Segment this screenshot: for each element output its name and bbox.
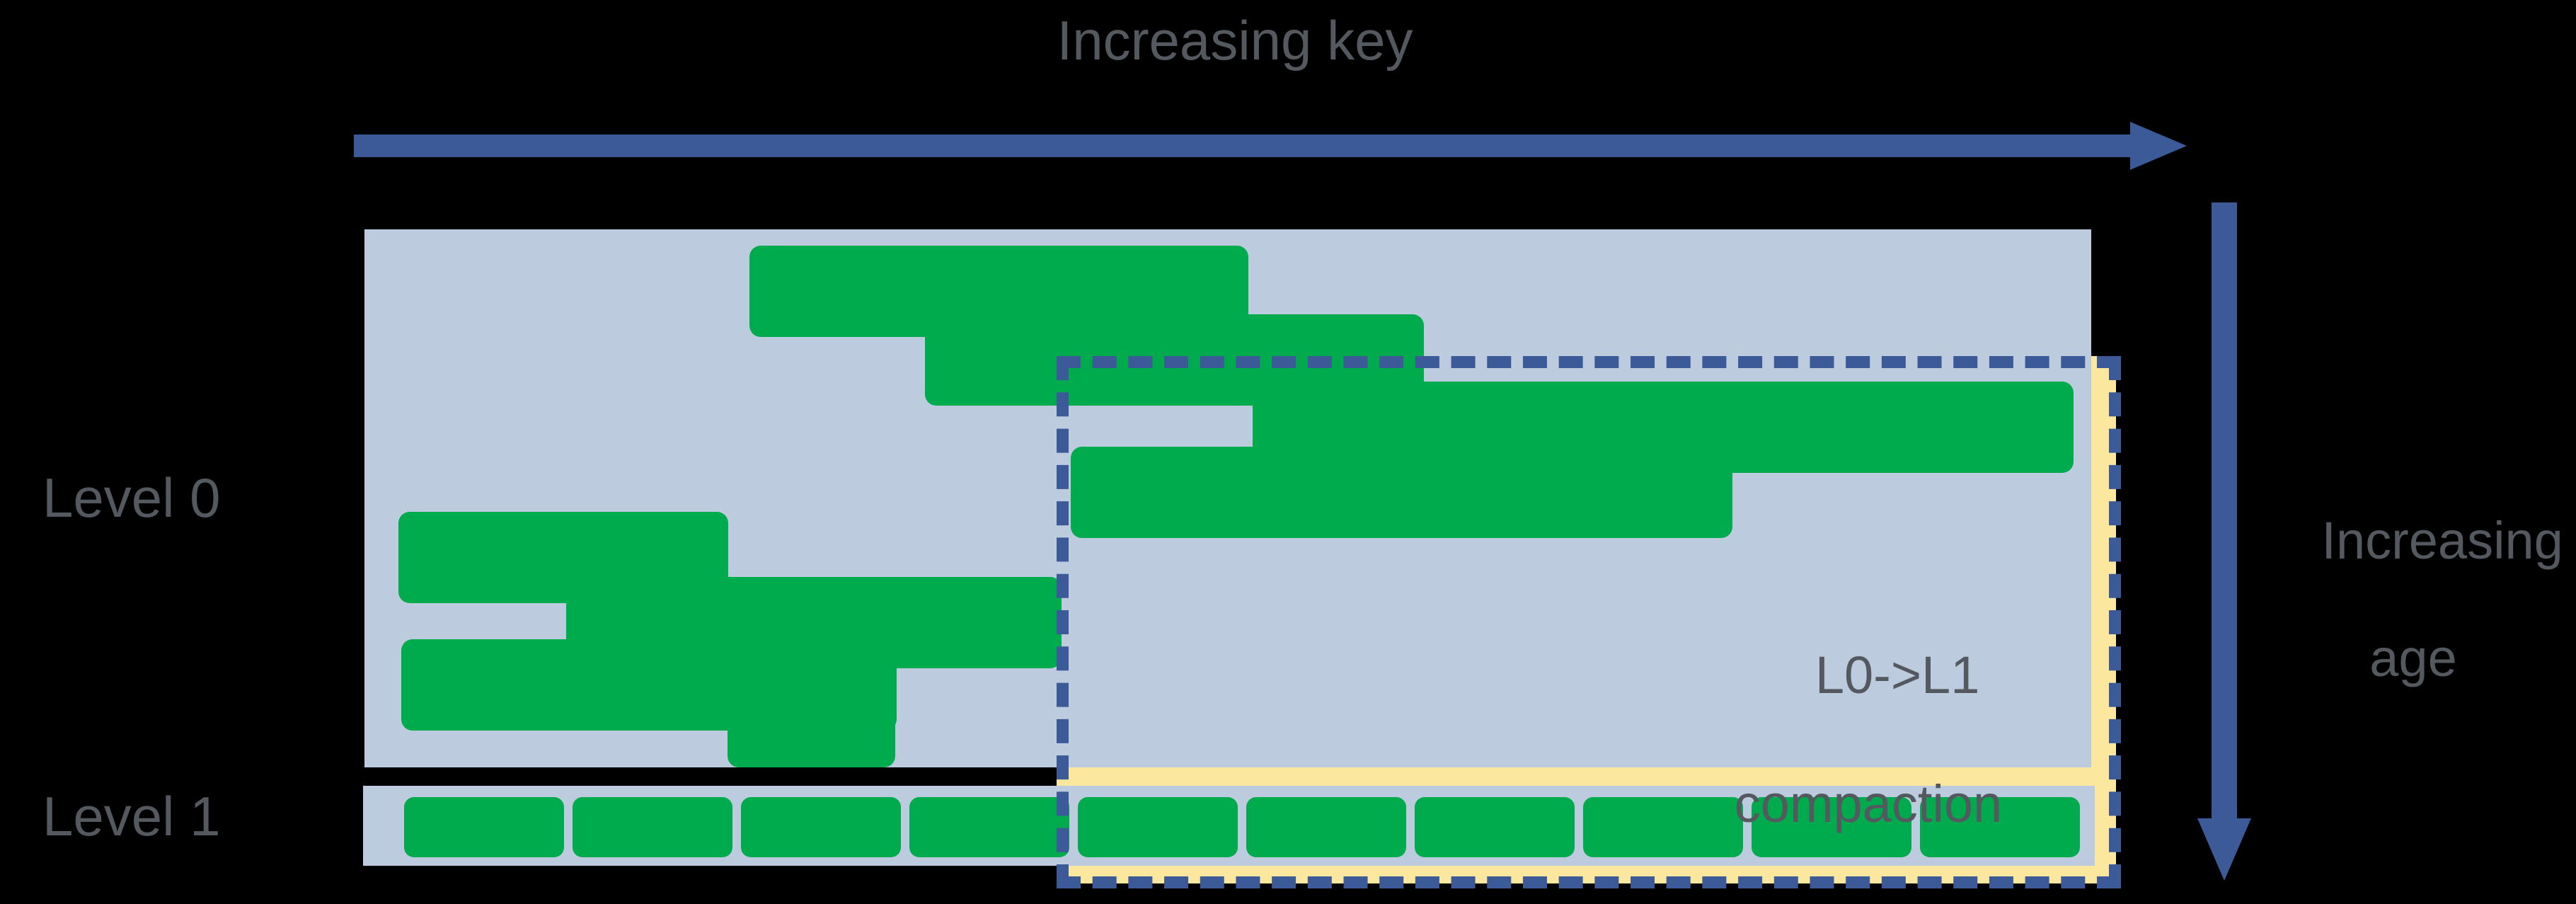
increasing-key-label: Increasing key (0, 10, 2523, 71)
compaction-line1: L0->L1 (1815, 646, 1979, 704)
level-0-label: Level 0 (42, 467, 221, 529)
arrow-shaft (354, 135, 2144, 157)
level-1-label: Level 1 (42, 786, 221, 847)
lsm-compaction-diagram: Increasing key Increasing age Level 0 Le… (0, 0, 2576, 904)
arrow-shaft (2212, 202, 2237, 833)
increasing-age-line2: age (2250, 629, 2576, 688)
level-1-sstable[interactable] (741, 797, 901, 857)
down-arrow-icon (2197, 202, 2254, 882)
increasing-age-line1: Increasing (2321, 511, 2563, 570)
arrow-head (2197, 818, 2251, 881)
right-arrow-icon (354, 122, 2187, 171)
level-0-sstable[interactable] (728, 704, 895, 767)
compaction-line2: compaction (1663, 775, 2074, 834)
level-1-sstable[interactable] (909, 797, 1069, 857)
level-1-sstable[interactable] (573, 797, 732, 857)
increasing-age-label: Increasing age (2250, 453, 2576, 805)
arrow-head (2130, 122, 2187, 170)
level-1-sstable[interactable] (404, 797, 564, 857)
compaction-annotation: L0->L1 compaction (1663, 588, 2074, 904)
